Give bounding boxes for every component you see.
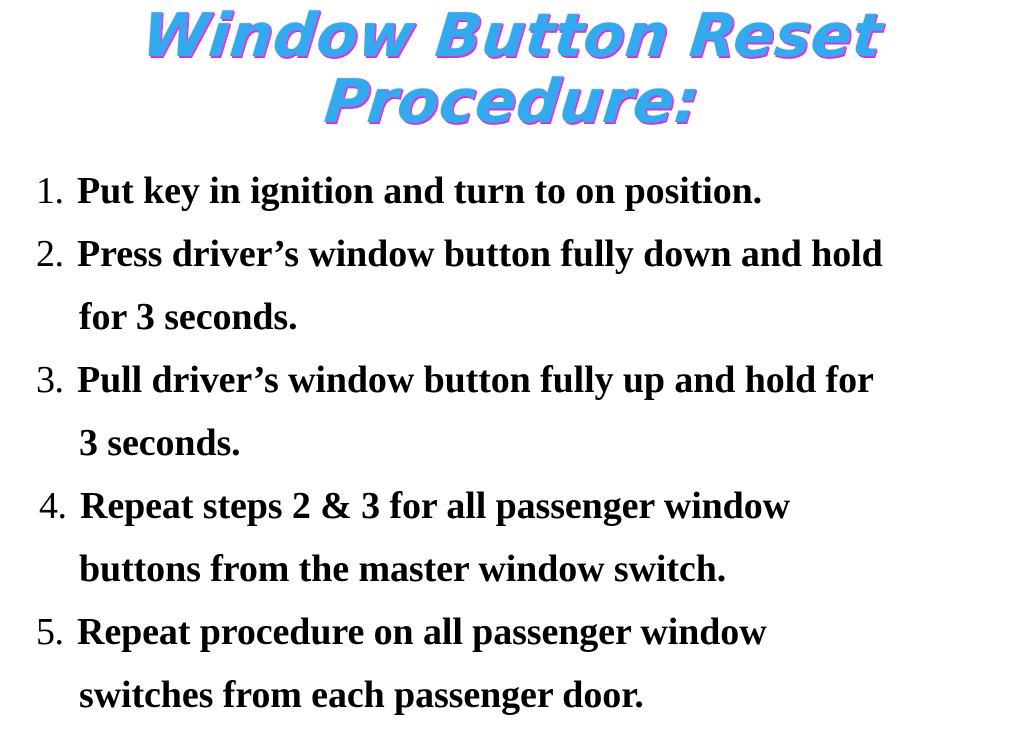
step-text-line: buttons from the master window switch. — [0, 538, 1024, 601]
step-number: 3. — [0, 349, 77, 412]
page-title-line-1: Window Button Reset — [0, 0, 1024, 72]
procedure-step-list: 1. Put key in ignition and turn to on po… — [0, 160, 1024, 727]
step-number: 5. — [0, 601, 77, 664]
list-item: 4. Repeat steps 2 & 3 for all passenger … — [0, 475, 1024, 601]
step-text-line: switches from each passenger door. — [0, 664, 1024, 727]
step-text-line: Repeat steps 2 & 3 for all passenger win… — [80, 475, 790, 538]
step-text-line: Put key in ignition and turn to on posit… — [77, 160, 762, 223]
step-number: 1. — [0, 160, 77, 223]
list-item: 2. Press driver’s window button fully do… — [0, 223, 1024, 349]
step-text-line: Press driver’s window button fully down … — [77, 223, 883, 286]
list-item: 5. Repeat procedure on all passenger win… — [0, 601, 1024, 727]
page-title-line-2: Procedure: — [0, 66, 1024, 138]
step-text-line: Pull driver’s window button fully up and… — [77, 349, 874, 412]
list-item: 1. Put key in ignition and turn to on po… — [0, 160, 1024, 223]
step-number: 2. — [0, 223, 77, 286]
step-text-line: for 3 seconds. — [0, 286, 1024, 349]
step-text-line: Repeat procedure on all passenger window — [77, 601, 767, 664]
page-title: Window Button Reset Procedure: — [0, 0, 1024, 138]
slide-page: Window Button Reset Procedure: 1. Put ke… — [0, 0, 1024, 731]
step-number: 4. — [0, 475, 80, 538]
step-text-line: 3 seconds. — [0, 412, 1024, 475]
list-item: 3. Pull driver’s window button fully up … — [0, 349, 1024, 475]
